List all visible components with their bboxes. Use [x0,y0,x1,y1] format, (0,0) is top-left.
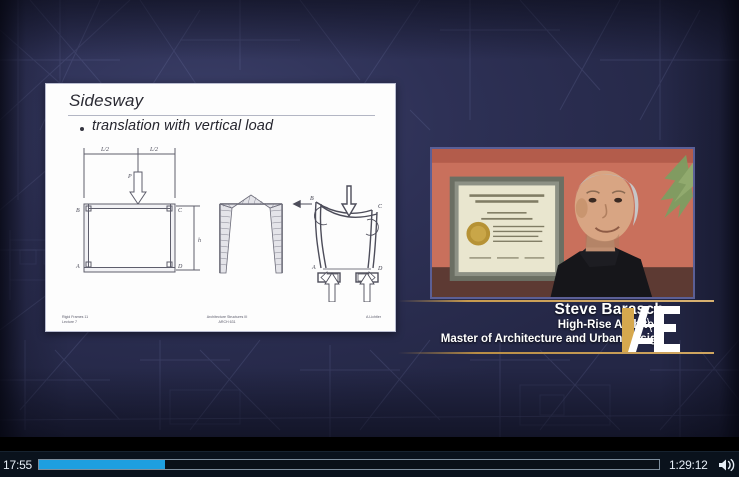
player-control-bar: 17:55 1:29:12 [0,451,739,477]
ae-monogram-logo-icon [618,304,684,354]
seek-bar-fill [39,460,165,469]
figure-undeformed-portal-frame [84,148,200,272]
slide-bullet: translation with vertical load [80,118,273,134]
figure1-label-D: D [177,264,183,270]
seek-bar[interactable] [38,459,660,470]
slide-title-divider [68,115,375,116]
bullet-dot-icon [80,127,84,131]
figure3-label-C: C [378,204,383,210]
lecture-slide: Sidesway translation with vertical load [45,83,396,332]
video-frame-image [432,149,693,299]
interview-video[interactable] [430,147,695,299]
slide-footer-center: Architecture Structures III ARCH 631 [207,315,248,325]
figure3-label-B: B [310,196,314,202]
figure1-label-h: h [198,238,201,244]
figure1-label-L2b: L/2 [149,147,158,153]
figure1-label-B: B [76,208,80,214]
figure1-label-C: C [178,208,183,214]
figure1-label-P: P [127,174,132,180]
letterbox-band [0,437,739,451]
figure-bending-moment-diagram [220,195,282,273]
total-time-label: 1:29:12 [669,458,708,472]
slide-footer: Rigid Frames 11 Lecture 7 Architecture S… [46,315,396,325]
elapsed-time-label: 17:55 [0,458,36,472]
slide-footer-right: A.Lichtler [366,315,381,325]
speaker-volume-icon[interactable] [717,457,737,473]
slide-title: Sidesway [69,91,143,111]
figure3-label-D: D [377,266,383,272]
figure3-label-A: A [311,265,316,271]
video-stage: Sidesway translation with vertical load [0,0,739,437]
figure1-label-A: A [75,264,80,270]
figure-deflected-shape-with-reactions [294,186,378,302]
video-player: Sidesway translation with vertical load [0,0,739,477]
slide-footer-left: Rigid Frames 11 Lecture 7 [62,315,88,325]
figure1-label-L2: L/2 [100,147,109,153]
slide-figure-group: L/2 L/2 P B C A D h [46,142,396,302]
slide-bullet-text: translation with vertical load [92,118,273,134]
